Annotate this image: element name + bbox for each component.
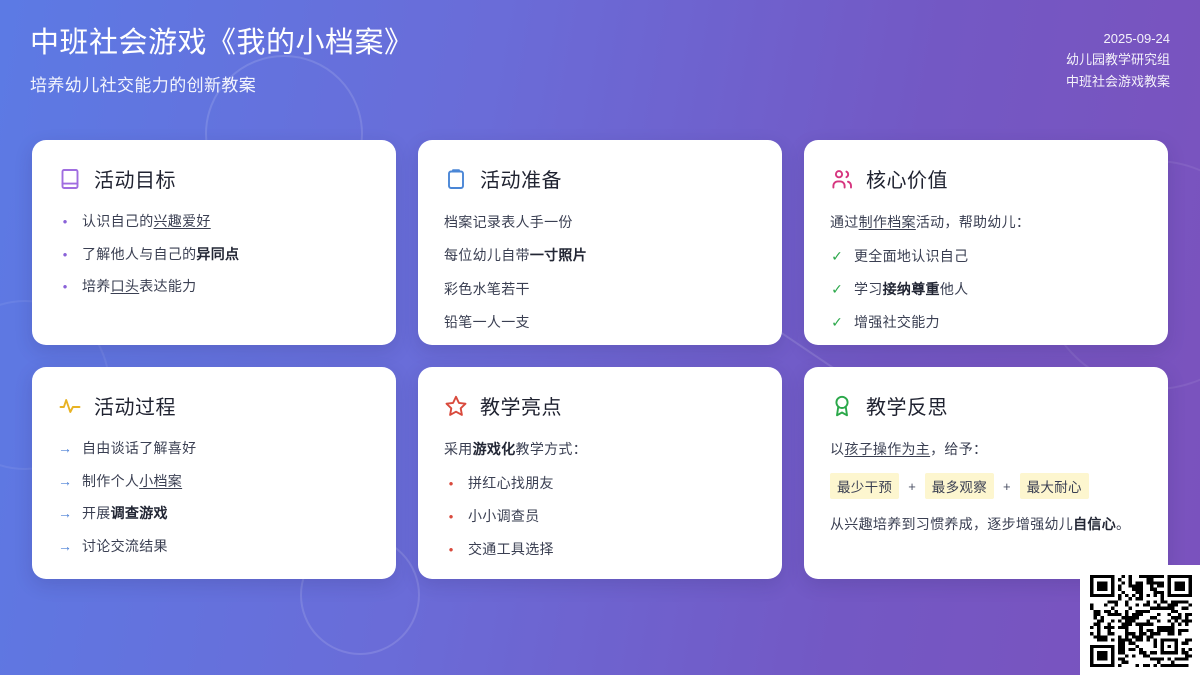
list-item-text: 彩色水笔若干 — [444, 278, 756, 300]
award-icon — [830, 394, 854, 418]
highlight-tag: 最少干预 — [830, 473, 899, 499]
card-body: 以孩子操作为主，给予：最少干预+最多观察+最大耐心从兴趣培养到习惯养成，逐步增强… — [830, 438, 1142, 536]
list-item-text: 增强社交能力 — [854, 312, 940, 334]
tag-separator: + — [1003, 479, 1011, 494]
list-item: ✓更全面地认识自己 — [830, 246, 1142, 268]
list-item-text: 拼红心找朋友 — [468, 473, 554, 495]
card-activity-goals: 活动目标•认识自己的兴趣爱好•了解他人与自己的异同点•培养口头表达能力 — [32, 140, 396, 345]
tag-separator: + — [908, 479, 916, 494]
card-body: 档案记录表人手一份每位幼儿自带一寸照片彩色水笔若干铅笔一人一支 — [444, 211, 756, 334]
arrow-right-icon: → — [58, 536, 72, 558]
card-title: 核心价值 — [866, 164, 948, 193]
bullet-dot-icon: • — [58, 277, 72, 297]
list-item-text: 自由谈话了解喜好 — [82, 438, 196, 460]
arrow-right-icon: → — [58, 438, 72, 460]
highlight-tag: 最大耐心 — [1020, 473, 1089, 499]
card-header: 教学亮点 — [444, 391, 756, 420]
list-item-text: 讨论交流结果 — [82, 536, 168, 558]
card-teaching-reflection: 教学反思以孩子操作为主，给予：最少干预+最多观察+最大耐心从兴趣培养到习惯养成，… — [804, 367, 1168, 579]
list-item: •了解他人与自己的异同点 — [58, 244, 370, 266]
card-header: 活动过程 — [58, 391, 370, 420]
arrow-right-icon: → — [58, 503, 72, 525]
check-icon: ✓ — [830, 312, 844, 334]
slide-header: 中班社会游戏《我的小档案》 培养幼儿社交能力的创新教案 2025-09-24 幼… — [0, 0, 1200, 122]
card-title: 教学反思 — [866, 391, 948, 420]
list-item: •培养口头表达能力 — [58, 276, 370, 298]
clipboard-icon — [444, 167, 468, 191]
list-item: →讨论交流结果 — [58, 536, 370, 558]
list-item: •拼红心找朋友 — [444, 473, 756, 495]
card-title: 活动过程 — [94, 391, 176, 420]
list-item-text: 制作个人小档案 — [82, 471, 182, 493]
card-activity-process: 活动过程→自由谈话了解喜好→制作个人小档案→开展调查游戏→讨论交流结果 — [32, 367, 396, 579]
list-item-text: 每位幼儿自带一寸照片 — [444, 244, 756, 266]
card-header: 活动目标 — [58, 164, 370, 193]
arrow-right-icon: → — [58, 471, 72, 493]
users-icon — [830, 167, 854, 191]
card-header: 核心价值 — [830, 164, 1142, 193]
header-left: 中班社会游戏《我的小档案》 培养幼儿社交能力的创新教案 — [30, 0, 414, 96]
header-meta: 2025-09-24 幼儿园教学研究组 中班社会游戏教案 — [1066, 0, 1170, 92]
qr-code — [1090, 575, 1192, 667]
list-item-text: 铅笔一人一支 — [444, 311, 756, 333]
book-icon — [58, 167, 82, 191]
check-icon: ✓ — [830, 279, 844, 301]
page-subtitle: 培养幼儿社交能力的创新教案 — [30, 71, 414, 96]
list-item-text: 档案记录表人手一份 — [444, 211, 756, 233]
card-body: 通过制作档案活动，帮助幼儿：✓更全面地认识自己✓学习接纳尊重他人✓增强社交能力 — [830, 211, 1142, 333]
list-item: •交通工具选择 — [444, 539, 756, 561]
activity-pulse-icon — [58, 394, 82, 418]
card-body: •认识自己的兴趣爱好•了解他人与自己的异同点•培养口头表达能力 — [58, 211, 370, 298]
list-item: ✓学习接纳尊重他人 — [830, 279, 1142, 301]
list-item: ✓增强社交能力 — [830, 312, 1142, 334]
meta-date: 2025-09-24 — [1066, 28, 1170, 49]
list-item-text: 更全面地认识自己 — [854, 246, 968, 268]
card-grid: 活动目标•认识自己的兴趣爱好•了解他人与自己的异同点•培养口头表达能力活动准备档… — [32, 140, 1168, 579]
card-title: 活动准备 — [480, 164, 562, 193]
bullet-dot-icon: • — [58, 212, 72, 232]
bullet-dot-icon: • — [444, 474, 458, 494]
list-item: •认识自己的兴趣爱好 — [58, 211, 370, 233]
list-item-text: 交通工具选择 — [468, 539, 554, 561]
page-title: 中班社会游戏《我的小档案》 — [30, 24, 414, 63]
card-title: 活动目标 — [94, 164, 176, 193]
card-intro-text: 以孩子操作为主，给予： — [830, 438, 1142, 460]
card-header: 教学反思 — [830, 391, 1142, 420]
list-item-text: 了解他人与自己的异同点 — [82, 244, 239, 266]
highlight-tag-row: 最少干预+最多观察+最大耐心 — [830, 473, 1142, 499]
card-teaching-highlights: 教学亮点采用游戏化教学方式：•拼红心找朋友•小小调查员•交通工具选择 — [418, 367, 782, 579]
card-intro-text: 通过制作档案活动，帮助幼儿： — [830, 211, 1142, 233]
card-closing-text: 从兴趣培养到习惯养成，逐步增强幼儿自信心。 — [830, 513, 1142, 535]
list-item-text: 认识自己的兴趣爱好 — [82, 211, 211, 233]
qr-code-container — [1080, 565, 1200, 675]
star-icon — [444, 394, 468, 418]
card-intro-text: 采用游戏化教学方式： — [444, 438, 756, 460]
bullet-dot-icon: • — [444, 507, 458, 527]
card-core-value: 核心价值通过制作档案活动，帮助幼儿：✓更全面地认识自己✓学习接纳尊重他人✓增强社… — [804, 140, 1168, 345]
card-activity-prep: 活动准备档案记录表人手一份每位幼儿自带一寸照片彩色水笔若干铅笔一人一支 — [418, 140, 782, 345]
meta-doc: 中班社会游戏教案 — [1066, 71, 1170, 92]
card-header: 活动准备 — [444, 164, 756, 193]
list-item-text: 小小调查员 — [468, 506, 540, 528]
bullet-dot-icon: • — [58, 245, 72, 265]
highlight-tag: 最多观察 — [925, 473, 994, 499]
list-item: →自由谈话了解喜好 — [58, 438, 370, 460]
list-item: →制作个人小档案 — [58, 471, 370, 493]
bullet-dot-icon: • — [444, 540, 458, 560]
meta-org: 幼儿园教学研究组 — [1066, 49, 1170, 70]
list-item: →开展调查游戏 — [58, 503, 370, 525]
card-body: 采用游戏化教学方式：•拼红心找朋友•小小调查员•交通工具选择 — [444, 438, 756, 560]
card-body: →自由谈话了解喜好→制作个人小档案→开展调查游戏→讨论交流结果 — [58, 438, 370, 558]
list-item: •小小调查员 — [444, 506, 756, 528]
card-title: 教学亮点 — [480, 391, 562, 420]
list-item-text: 培养口头表达能力 — [82, 276, 196, 298]
list-item-text: 学习接纳尊重他人 — [854, 279, 968, 301]
check-icon: ✓ — [830, 246, 844, 268]
list-item-text: 开展调查游戏 — [82, 503, 168, 525]
